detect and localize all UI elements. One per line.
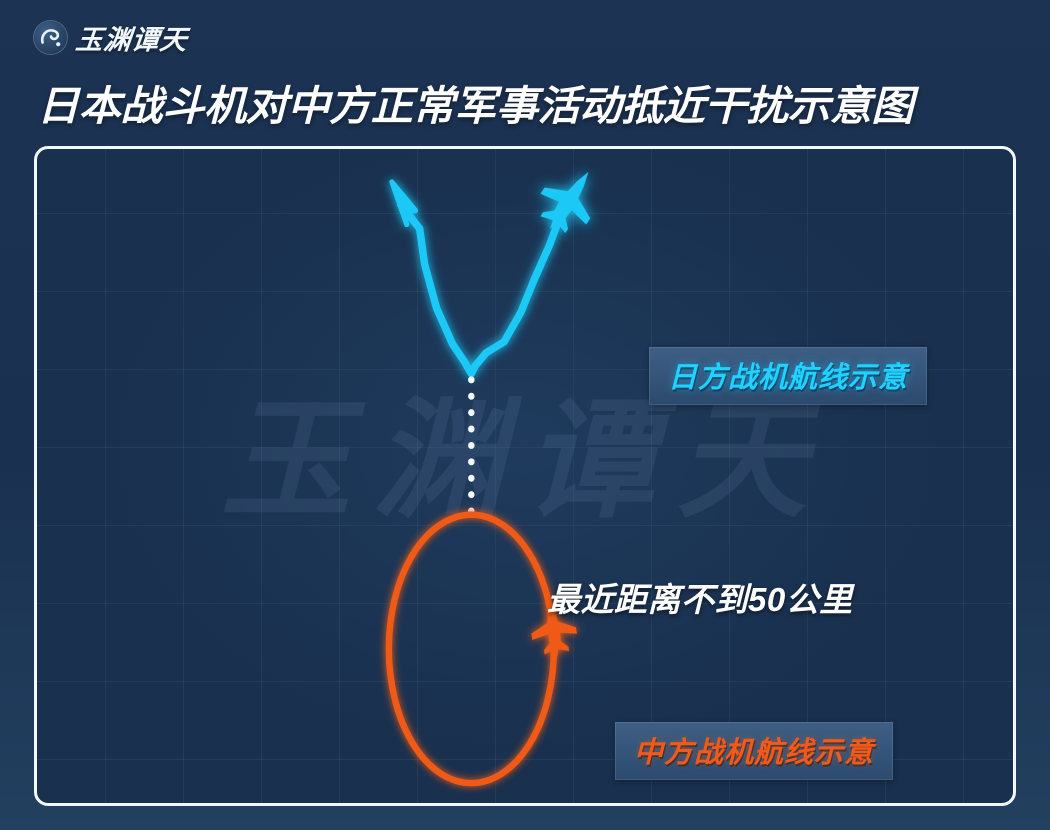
brand-logo: 玉渊谭天 — [34, 18, 188, 57]
japan-fighter-jet-icon — [527, 156, 611, 244]
diagram-panel: 玉渊谭天 — [34, 146, 1016, 806]
japan-flight-path — [392, 182, 558, 374]
header: 玉渊谭天 日本战斗机对中方正常军事活动抵近干扰示意图 — [0, 0, 1050, 140]
page-title: 日本战斗机对中方正常军事活动抵近干扰示意图 — [37, 72, 913, 132]
infographic-root: 玉渊谭天 日本战斗机对中方正常军事活动抵近干扰示意图 玉渊谭天 — [0, 0, 1050, 830]
flight-tracks-layer — [37, 149, 1013, 805]
legend-japan-route: 日方战机航线示意 — [649, 347, 927, 405]
legend-china-route: 中方战机航线示意 — [615, 722, 893, 780]
brand-name: 玉渊谭天 — [74, 18, 190, 57]
china-flight-path — [389, 515, 554, 783]
closest-distance-label: 最近距离不到50公里 — [547, 573, 853, 621]
yuyuan-circular-logo-icon — [34, 21, 67, 54]
